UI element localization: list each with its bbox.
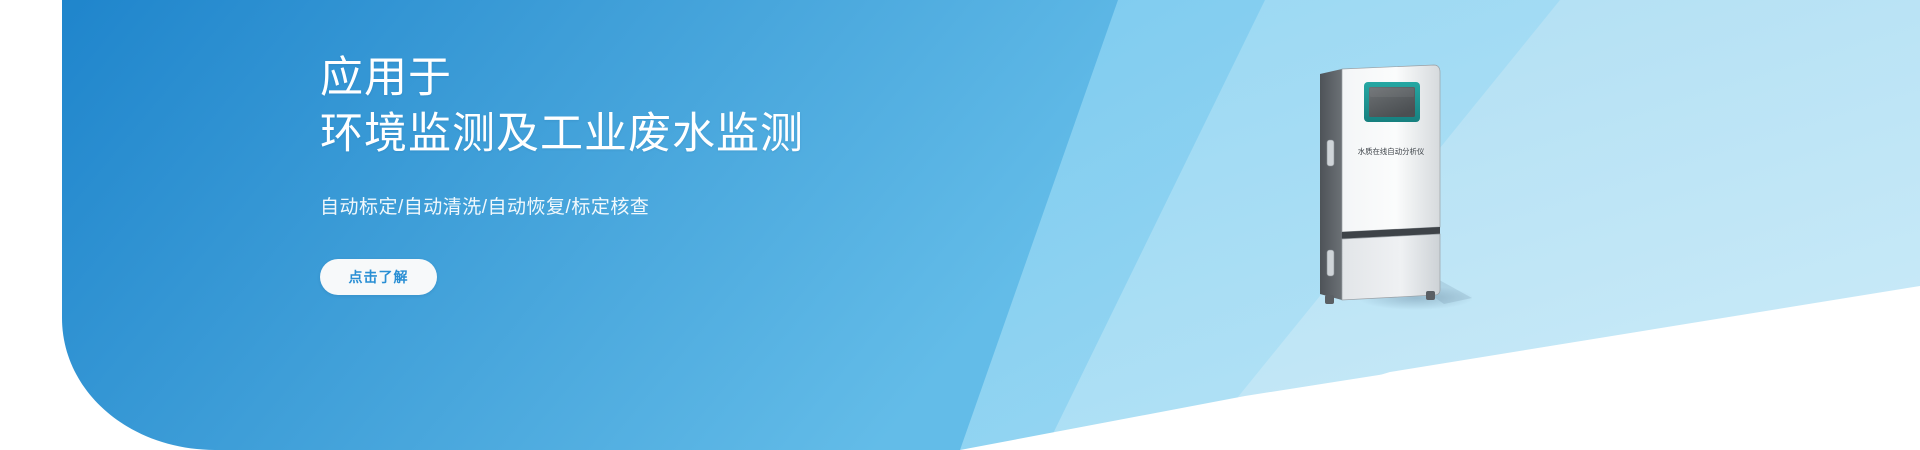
device-lower-handle [1327,250,1334,276]
page-title: 应用于 环境监测及工业废水监测 [320,50,1080,162]
hero-subtitle: 自动标定/自动清洗/自动恢复/标定核查 [320,194,1080,222]
headline-line-2: 环境监测及工业废水监测 [320,106,1080,162]
device-screen-glare [1370,88,1414,97]
device-upper-handle [1327,140,1334,166]
device-caster-left [1325,295,1334,304]
device-caster-right [1426,291,1435,300]
headline-line-1: 应用于 [320,50,1080,106]
device-illustration: 水质在线自动分析仪 [1312,62,1472,312]
hero-banner: 水质在线自动分析仪 应用于 环境监测及工业废水监测 自动标定/自动清洗/自动恢复… [0,0,1920,450]
hero-copy: 应用于 环境监测及工业废水监测 自动标定/自动清洗/自动恢复/标定核查 点击了解 [320,50,1080,295]
device-lower-door [1342,234,1440,300]
device-nameplate: 水质在线自动分析仪 [1358,147,1425,156]
learn-more-button[interactable]: 点击了解 [320,259,437,295]
